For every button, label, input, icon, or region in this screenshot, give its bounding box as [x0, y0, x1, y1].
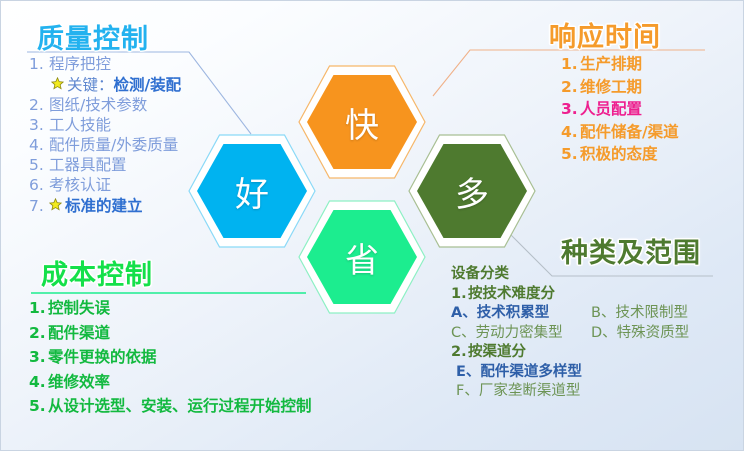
item-text: 积极的态度	[580, 147, 658, 163]
list-item: 7. 标准的建立	[29, 198, 181, 215]
list-item: 1. 程序把控	[29, 57, 181, 73]
item-text-left: C、劳动力密集型	[451, 326, 591, 341]
item-number: 1.	[29, 57, 49, 73]
item-text: 从设计选型、安装、运行过程开始控制	[48, 399, 312, 415]
list-item: E、配件渠道多样型	[451, 365, 689, 380]
heading-scope: 种类及范围	[561, 231, 701, 270]
list-item: 6. 考核认证	[29, 178, 181, 194]
list-item: 5. 积极的态度	[561, 147, 679, 163]
item-text: 控制失误	[48, 301, 110, 317]
item-number: 2.	[29, 326, 48, 342]
item-number: 5.	[29, 399, 48, 415]
slide-canvas: 质量控制 响应时间 成本控制 种类及范围 好 快 省 多	[0, 0, 744, 451]
list-item: 2. 图纸/技术参数	[29, 98, 181, 114]
item-label: 关键：	[67, 78, 114, 94]
list-item: 关键： 检测/装配	[29, 77, 181, 94]
item-text-left: E、配件渠道多样型	[456, 365, 582, 380]
list-item: 4. 维修效率	[29, 375, 312, 391]
list-cost: 1. 控制失误 2. 配件渠道 3. 零件更换的依据 4. 维修效率 5. 从设…	[29, 301, 312, 424]
item-number: 5.	[561, 147, 580, 163]
item-text: 按渠道分	[468, 345, 526, 360]
item-text: 配件质量/外委质量	[49, 138, 178, 154]
star-icon	[51, 77, 64, 90]
item-text: 配件储备/渠道	[580, 125, 679, 141]
item-number: 3.	[29, 118, 49, 134]
item-text: 图纸/技术参数	[49, 98, 147, 114]
item-text: 按技术难度分	[468, 287, 555, 302]
item-number: 1.	[29, 301, 48, 317]
list-item: 1. 控制失误	[29, 301, 312, 317]
list-item: 5. 从设计选型、安装、运行过程开始控制	[29, 399, 312, 415]
list-item: 5. 工器具配置	[29, 158, 181, 174]
hexagon-duo[interactable]: 多	[407, 133, 537, 249]
scope-subtitle-row: 设备分类	[451, 267, 689, 282]
item-number: 4.	[29, 375, 48, 391]
list-quality: 1. 程序把控 关键： 检测/装配 2. 图纸/技术参数 3. 工人技能 4. …	[29, 57, 181, 219]
item-text: 考核认证	[49, 178, 111, 194]
item-text-left: F、厂家垄断渠道型	[456, 384, 580, 399]
item-number: 1.	[451, 287, 468, 302]
list-item: 3. 零件更换的依据	[29, 350, 312, 366]
item-text-left: A、技术积累型	[451, 306, 591, 321]
list-item: 3. 人员配置	[561, 102, 679, 118]
item-text: 标准的建立	[65, 199, 143, 215]
heading-response: 响应时间	[549, 15, 661, 54]
item-number: 2.	[451, 345, 468, 360]
list-item: 3. 工人技能	[29, 118, 181, 134]
list-item: 4. 配件储备/渠道	[561, 125, 679, 141]
item-text-right: D、特殊资质型	[591, 326, 689, 341]
list-item: 1. 生产排期	[561, 57, 679, 73]
item-number: 7.	[29, 199, 49, 215]
heading-quality: 质量控制	[37, 17, 149, 56]
heading-cost: 成本控制	[41, 253, 153, 292]
item-text: 维修效率	[48, 375, 110, 391]
list-item: 2. 维修工期	[561, 80, 679, 96]
star-icon	[49, 198, 62, 211]
item-text-right: B、技术限制型	[591, 306, 688, 321]
item-text: 人员配置	[580, 102, 642, 118]
list-item: 2. 配件渠道	[29, 326, 312, 342]
item-text: 生产排期	[580, 57, 642, 73]
item-text: 维修工期	[580, 80, 642, 96]
item-number: 3.	[29, 350, 48, 366]
item-text: 工器具配置	[49, 158, 127, 174]
list-item: C、劳动力密集型 D、特殊资质型	[451, 326, 689, 341]
item-number: 6.	[29, 178, 49, 194]
item-number: 5.	[29, 158, 49, 174]
item-text: 配件渠道	[48, 326, 110, 342]
list-item: F、厂家垄断渠道型	[451, 384, 689, 399]
scope-subtitle: 设备分类	[451, 267, 509, 282]
list-item: 4. 配件质量/外委质量	[29, 138, 181, 154]
item-number: 4.	[561, 125, 580, 141]
list-item: 1. 按技术难度分	[451, 287, 689, 302]
list-item: 2. 按渠道分	[451, 345, 689, 360]
item-number: 2.	[29, 98, 49, 114]
item-text: 工人技能	[49, 118, 111, 134]
item-text: 检测/装配	[114, 78, 182, 94]
list-scope: 设备分类 1. 按技术难度分 A、技术积累型 B、技术限制型 C、劳动力密集型 …	[451, 267, 689, 404]
item-text: 零件更换的依据	[48, 350, 157, 366]
item-number: 3.	[561, 102, 580, 118]
item-text: 程序把控	[49, 57, 111, 73]
list-item: A、技术积累型 B、技术限制型	[451, 306, 689, 321]
item-number: 4.	[29, 138, 49, 154]
list-response: 1. 生产排期 2. 维修工期 3. 人员配置 4. 配件储备/渠道 5. 积极…	[561, 57, 679, 170]
item-number: 2.	[561, 80, 580, 96]
item-number: 1.	[561, 57, 580, 73]
